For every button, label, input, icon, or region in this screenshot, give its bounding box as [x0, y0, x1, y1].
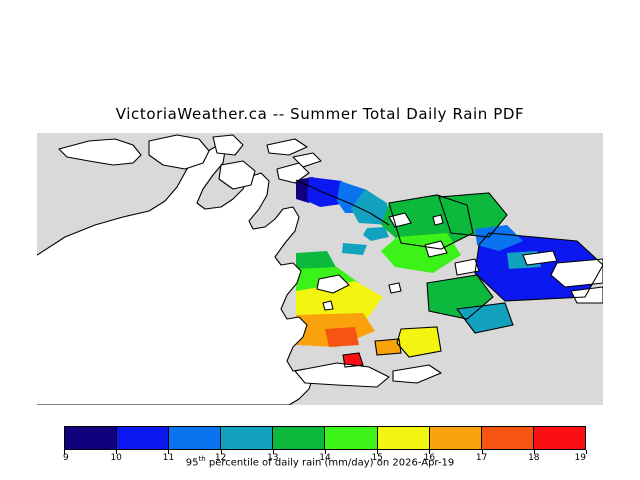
land-vancouver-island [37, 147, 313, 405]
land-north-island-a [149, 135, 209, 169]
colorbar-caption: 95th percentile of daily rain (mm/day) o… [0, 455, 640, 468]
caption-suffix: percentile of daily rain (mm/day) on 202… [206, 457, 455, 468]
colorbar-area: 910111213141516171819 [0, 424, 640, 480]
land-south-strip [295, 363, 389, 387]
land-sliver-a [267, 139, 307, 155]
land-islet-2 [323, 301, 333, 310]
colorbar-segment-14-15 [325, 427, 377, 449]
weather-map-figure: VictoriaWeather.ca -- Summer Total Daily… [0, 0, 640, 480]
land-north-island-c [219, 161, 255, 189]
contour-islet-teal-1 [363, 227, 389, 241]
contour-14-15-saltspring [381, 233, 461, 273]
colorbar-segment-13-14 [273, 427, 325, 449]
land-nw-peninsula [59, 139, 141, 165]
land-islet-3 [433, 215, 443, 225]
contour-17-18-harbour [325, 327, 359, 347]
colorbar-segment-12-13 [221, 427, 273, 449]
colorbar-segment-17-18 [482, 427, 534, 449]
figure-title: VictoriaWeather.ca -- Summer Total Daily… [0, 105, 640, 123]
land-south-strip-2 [393, 365, 441, 383]
map-canvas [37, 133, 603, 405]
colorbar-segment-16-17 [430, 427, 482, 449]
colorbar [64, 426, 586, 450]
contour-islet-teal-2 [342, 243, 367, 255]
caption-superscript: th [199, 455, 206, 463]
land-north-island-b [213, 135, 243, 155]
colorbar-segment-10-11 [117, 427, 169, 449]
colorbar-segment-18-19 [534, 427, 585, 449]
colorbar-segment-15-16 [378, 427, 430, 449]
colorbar-segment-9-10 [65, 427, 117, 449]
land-islet-1 [389, 283, 401, 293]
map-panel [37, 133, 603, 405]
colorbar-segment-11-12 [169, 427, 221, 449]
caption-prefix: 95 [186, 457, 199, 468]
colorbar-tick-19 [586, 450, 587, 454]
